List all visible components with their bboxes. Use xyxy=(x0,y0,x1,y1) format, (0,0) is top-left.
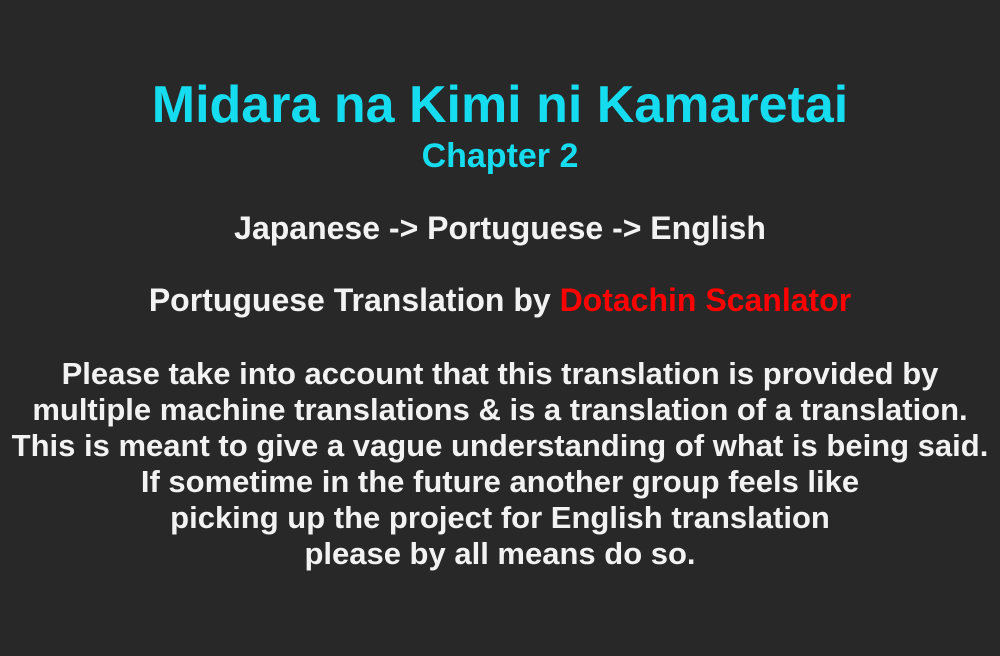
notice-line: If sometime in the future another group … xyxy=(0,464,1000,500)
notice-block: Please take into account that this trans… xyxy=(0,356,1000,572)
credits-page: Midara na Kimi ni Kamaretai Chapter 2 Ja… xyxy=(0,0,1000,656)
scanlator-group-name: Dotachin Scanlator xyxy=(560,282,852,318)
title-block: Midara na Kimi ni Kamaretai Chapter 2 xyxy=(0,76,1000,176)
chapter-label: Chapter 2 xyxy=(0,136,1000,176)
notice-line: please by all means do so. xyxy=(0,536,1000,572)
page-title: Midara na Kimi ni Kamaretai xyxy=(0,76,1000,134)
notice-line: multiple machine translations & is a tra… xyxy=(0,392,1000,428)
credits-block: Japanese -> Portuguese -> English Portug… xyxy=(0,208,1000,320)
notice-line: picking up the project for English trans… xyxy=(0,500,1000,536)
translation-credit-prefix: Portuguese Translation by xyxy=(149,282,560,318)
notice-line: Please take into account that this trans… xyxy=(0,356,1000,392)
notice-line: This is meant to give a vague understand… xyxy=(0,428,1000,464)
translation-credit-line: Portuguese Translation by Dotachin Scanl… xyxy=(0,280,1000,320)
translation-chain-text: Japanese -> Portuguese -> English xyxy=(0,208,1000,248)
